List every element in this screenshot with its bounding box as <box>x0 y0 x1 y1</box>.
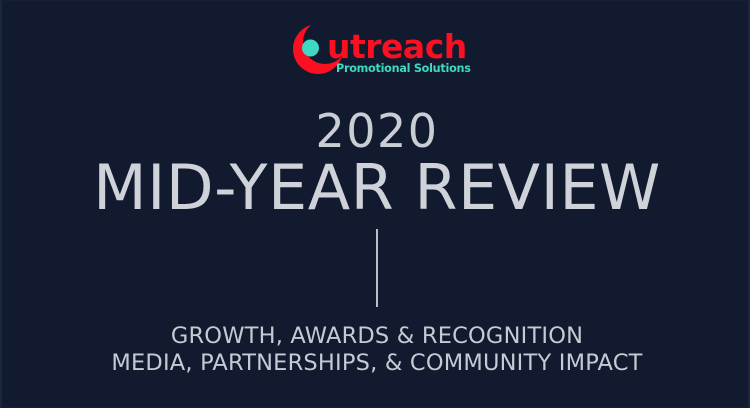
logo-tagline: Promotional Solutions <box>336 63 471 75</box>
slide-subtitle-line-1: GROWTH, AWARDS & RECOGNITION <box>2 323 750 350</box>
slide-year: 2020 <box>2 106 750 156</box>
logo-wordmark: utreach <box>327 30 467 63</box>
slide-subtitle-group: GROWTH, AWARDS & RECOGNITION MEDIA, PART… <box>2 323 750 377</box>
vertical-divider <box>376 229 378 307</box>
presentation-title-slide: utreach Promotional Solutions 2020 MID-Y… <box>0 0 750 408</box>
logo-inner-group: utreach Promotional Solutions <box>292 23 462 83</box>
slide-title: MID-YEAR REVIEW <box>2 153 750 223</box>
brand-logo: utreach Promotional Solutions <box>2 23 750 85</box>
slide-subtitle-line-2: MEDIA, PARTNERSHIPS, & COMMUNITY IMPACT <box>2 350 750 377</box>
